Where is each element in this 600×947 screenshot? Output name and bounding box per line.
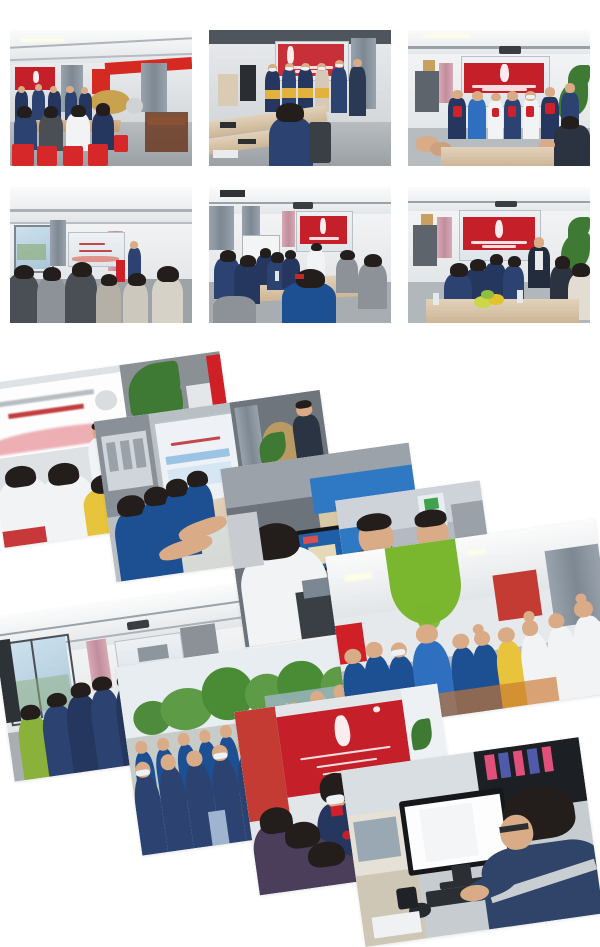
grid-photo-6[interactable]: [408, 187, 590, 323]
grid-photo-4[interactable]: [10, 187, 192, 323]
photo-collage: [0, 345, 600, 937]
grid-photo-5[interactable]: [209, 187, 391, 323]
photo-grid: [0, 0, 600, 340]
collage-photo-9[interactable]: [341, 737, 600, 947]
grid-photo-1[interactable]: [10, 30, 192, 166]
grid-photo-3[interactable]: [408, 30, 590, 166]
grid-photo-2[interactable]: [209, 30, 391, 166]
